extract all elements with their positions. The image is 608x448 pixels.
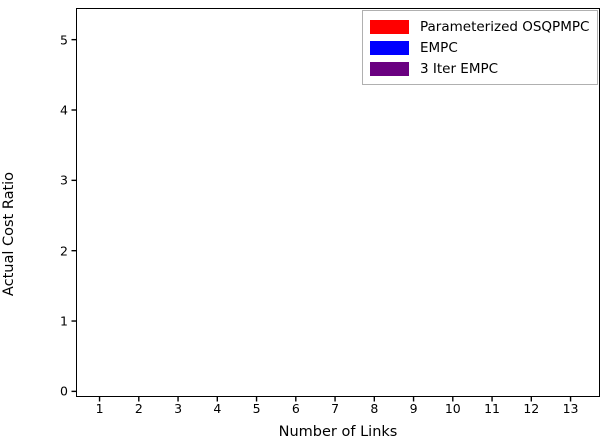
legend: Parameterized OSQPMPCEMPC3 Iter EMPC [362, 10, 598, 85]
x-tick-label: 8 [370, 401, 378, 416]
x-tick-label: 12 [523, 401, 539, 416]
legend-item: 3 Iter EMPC [370, 58, 589, 79]
y-axis-label-text: Actual Cost Ratio [1, 172, 17, 296]
x-tick-label: 7 [331, 401, 339, 416]
x-tick-label: 9 [410, 401, 418, 416]
legend-swatch [370, 41, 409, 55]
x-tick-label: 2 [135, 401, 143, 416]
legend-swatch [370, 20, 409, 34]
legend-item: Parameterized OSQPMPC [370, 16, 589, 37]
x-tick-label: 4 [213, 401, 221, 416]
legend-label: Parameterized OSQPMPC [420, 19, 589, 35]
x-tick-label: 13 [563, 401, 579, 416]
legend-item: EMPC [370, 37, 589, 58]
legend-label: EMPC [420, 40, 458, 56]
x-tick-label: 11 [484, 401, 500, 416]
x-tick-label: 1 [96, 401, 104, 416]
x-tick-label: 5 [253, 401, 261, 416]
x-tick-label: 3 [174, 401, 182, 416]
x-axis-label: Number of Links [76, 424, 600, 440]
x-tick-label: 10 [445, 401, 461, 416]
figure: 012345 12345678910111213 Actual Cost Rat… [0, 0, 608, 448]
legend-label: 3 Iter EMPC [420, 61, 498, 77]
x-tick-label: 6 [292, 401, 300, 416]
legend-swatch [370, 62, 409, 76]
y-axis-label: Actual Cost Ratio [0, 0, 20, 448]
